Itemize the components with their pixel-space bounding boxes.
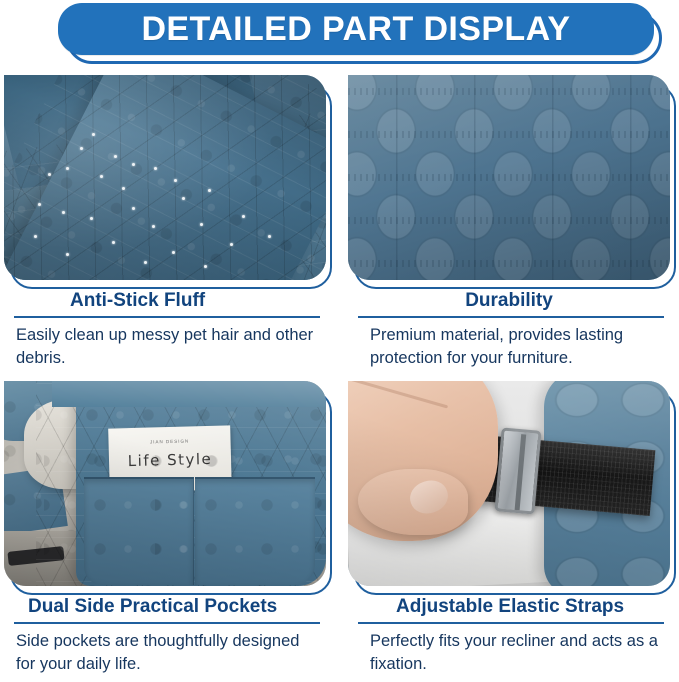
panel-adjustable-straps: Adjustable Elastic Straps Perfectly fits…: [348, 381, 670, 586]
header-banner: DETAILED PART DISPLAY: [0, 0, 679, 72]
panel-title-4: Adjustable Elastic Straps: [348, 594, 670, 620]
caption-divider-4: [358, 622, 664, 624]
caption-1: Anti-Stick Fluff Easily clean up messy p…: [4, 288, 326, 370]
infographic-page: DETAILED PART DISPLAY: [0, 0, 679, 682]
caption-2: Durability Premium material, provides la…: [348, 288, 670, 370]
photo-anti-stick-fluff: [4, 75, 326, 280]
panel-title-3: Dual Side Practical Pockets: [4, 594, 326, 620]
caption-3: Dual Side Practical Pockets Side pockets…: [4, 594, 326, 676]
panel-title-1: Anti-Stick Fluff: [4, 288, 326, 314]
photo-durability: [348, 75, 670, 280]
caption-divider-2: [358, 316, 664, 318]
photo-frame-4: [348, 381, 670, 586]
panel-dual-side-pockets: JIAN DESIGN Life Style Dual Side Practic…: [4, 381, 326, 586]
photo-adjustable-straps: [348, 381, 670, 586]
caption-4: Adjustable Elastic Straps Perfectly fits…: [348, 594, 670, 676]
panel-durability: Durability Premium material, provides la…: [348, 75, 670, 280]
panel-title-2: Durability: [348, 288, 670, 314]
banner-fill-shape: DETAILED PART DISPLAY: [58, 3, 654, 55]
panel-body-2: Premium material, provides lasting prote…: [348, 324, 670, 370]
page-title: DETAILED PART DISPLAY: [141, 12, 570, 46]
caption-divider-1: [14, 316, 320, 318]
caption-divider-3: [14, 622, 320, 624]
panel-anti-stick-fluff: Anti-Stick Fluff Easily clean up messy p…: [4, 75, 326, 280]
panel-body-4: Perfectly fits your recliner and acts as…: [348, 630, 670, 676]
photo-frame-2: [348, 75, 670, 280]
photo-frame-3: JIAN DESIGN Life Style: [4, 381, 326, 586]
photo-frame-1: [4, 75, 326, 280]
panel-body-1: Easily clean up messy pet hair and other…: [4, 324, 326, 370]
panel-body-3: Side pockets are thoughtfully designed f…: [4, 630, 326, 676]
photo-dual-side-pockets: JIAN DESIGN Life Style: [4, 381, 326, 586]
